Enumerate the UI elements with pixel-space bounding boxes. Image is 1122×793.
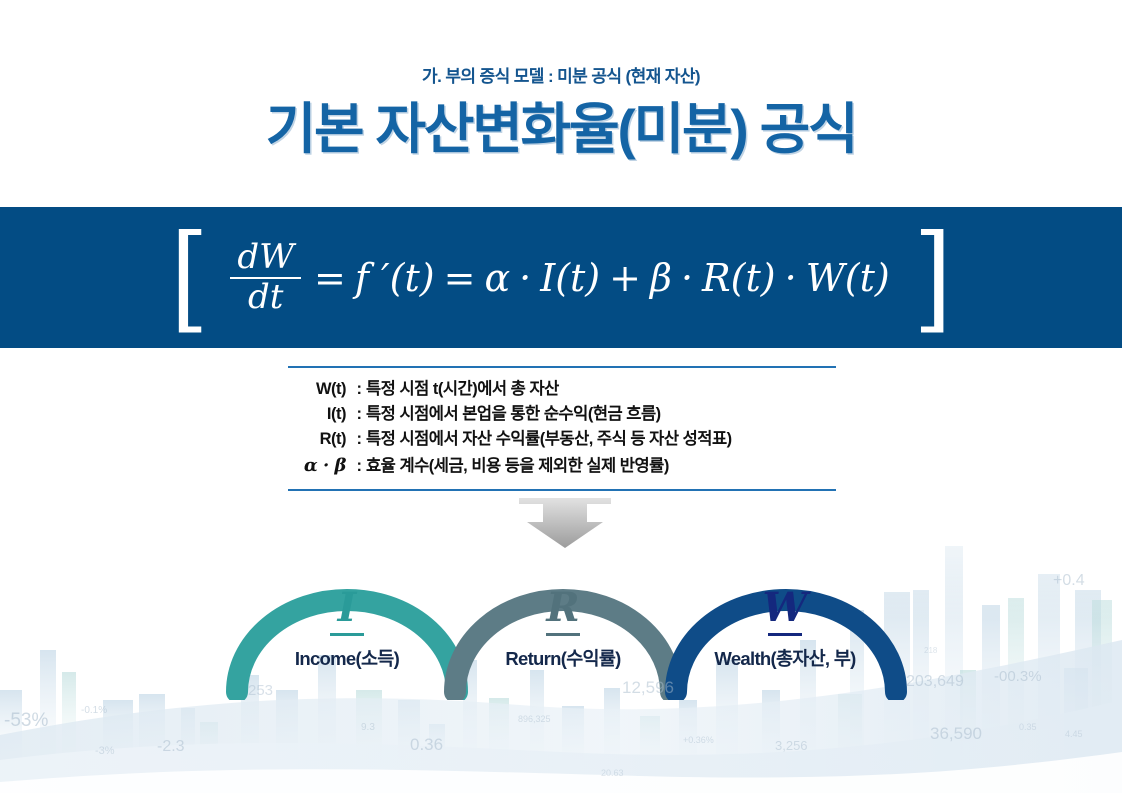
background-number: 36,590	[930, 724, 982, 744]
background-wave-3	[0, 752, 1122, 793]
infographic-page: 가. 부의 증식 모델 : 미분 공식 (현재 자산) 기본 자산변화율(미분)…	[0, 0, 1122, 793]
definition-row: I(t) : 특정 시점에서 본업을 통한 순수익(현금 흐름)	[288, 402, 836, 427]
formula-token-10: ·	[785, 256, 797, 300]
formula-token-8: ·	[681, 256, 693, 300]
definition-colon: :	[352, 427, 366, 452]
formula-token-6: +	[609, 256, 641, 300]
definition-row: α · β : 효율 계수(세금, 비용 등을 제외한 실제 반영률)	[288, 452, 836, 479]
fraction-numerator: dW	[230, 239, 301, 276]
definition-symbol: I(t)	[288, 402, 352, 427]
definition-text: 특정 시점에서 본업을 통한 순수익(현금 흐름)	[366, 402, 836, 427]
definition-colon: :	[352, 402, 366, 427]
definition-row: R(t) : 특정 시점에서 자산 수익률(부동산, 주식 등 자산 성적표)	[288, 427, 836, 452]
background-number: 4.45	[1065, 729, 1083, 739]
background-number: 3,256	[775, 738, 808, 753]
definition-symbol: α · β	[288, 452, 352, 479]
fraction-denominator: dt	[241, 279, 290, 316]
arch-underline-wealth	[768, 633, 802, 636]
background-number: -53%	[4, 710, 48, 732]
background-number: 0.36	[410, 735, 443, 755]
arch-letter-W: W	[655, 588, 915, 628]
bracket-left-icon: [	[170, 230, 208, 325]
arch-underline-return	[546, 633, 580, 636]
kicker-text: 가. 부의 증식 모델 : 미분 공식 (현재 자산)	[0, 62, 1122, 87]
formula-token-9: R(t)	[702, 256, 776, 300]
arch-diagram: I Income(소득) R Return(수익률) W Wealth(총자산,…	[0, 540, 1122, 700]
background-number: 896,325	[518, 714, 551, 724]
definition-row: W(t) : 특정 시점 t(시간)에서 총 자산	[288, 377, 836, 402]
definitions-block: W(t) : 특정 시점 t(시간)에서 총 자산 I(t) : 특정 시점에서…	[288, 366, 836, 491]
background-wave-2	[0, 700, 1122, 793]
arch-label-return: R Return(수익률)	[433, 588, 693, 671]
definition-text: 효율 계수(세금, 비용 등을 제외한 실제 반영률)	[366, 454, 836, 479]
formula-inner: [ dW dt = f ′(t) = α · I(t) + β · R(t) ·…	[0, 207, 1122, 348]
background-number: -3%	[95, 745, 115, 757]
formula-expression: dW dt = f ′(t) = α · I(t) + β · R(t) · W…	[230, 239, 891, 315]
background-number: -2.3	[157, 738, 185, 756]
formula-token-11: W(t)	[806, 256, 890, 300]
formula-token-5: I(t)	[540, 256, 600, 300]
formula-token-2: =	[444, 256, 476, 300]
formula-token-1: f ′(t)	[355, 256, 435, 300]
definition-symbol: W(t)	[288, 377, 352, 402]
background-number: 20.63	[601, 768, 624, 778]
arch-name-wealth: Wealth(총자산, 부)	[655, 645, 915, 671]
formula-band: [ dW dt = f ′(t) = α · I(t) + β · R(t) ·…	[0, 207, 1122, 348]
definition-text: 특정 시점 t(시간)에서 총 자산	[366, 377, 836, 402]
arch-underline-income	[330, 633, 364, 636]
formula-token-3: α	[484, 256, 510, 300]
definition-text: 특정 시점에서 자산 수익률(부동산, 주식 등 자산 성적표)	[366, 427, 836, 452]
definition-colon: :	[352, 377, 366, 402]
arch-name-return: Return(수익률)	[433, 645, 693, 671]
derivative-fraction: dW dt	[230, 239, 301, 315]
background-number: 9.3	[361, 722, 375, 733]
definition-symbol: R(t)	[288, 427, 352, 452]
page-title: 기본 자산변화율(미분) 공식	[0, 101, 1122, 159]
formula-token-7: β	[650, 256, 672, 300]
formula-token-4: ·	[519, 256, 531, 300]
arch-letter-R: R	[433, 588, 693, 628]
bracket-right-icon: ]	[913, 230, 951, 325]
background-number: -0.1%	[81, 705, 107, 716]
background-number: 0.35	[1019, 722, 1037, 732]
formula-token-0: =	[314, 256, 346, 300]
definition-colon: :	[352, 454, 366, 479]
background-number: +0.36%	[683, 735, 714, 745]
arch-label-wealth: W Wealth(총자산, 부)	[655, 588, 915, 671]
